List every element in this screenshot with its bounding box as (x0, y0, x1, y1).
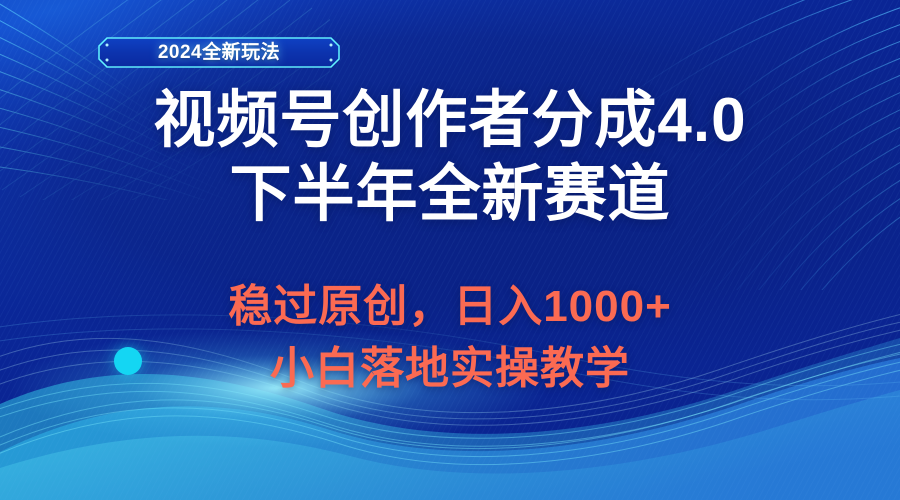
promo-badge: 2024全新玩法 (98, 37, 340, 68)
headline: 视频号创作者分成4.0 下半年全新赛道 (0, 88, 900, 227)
promo-poster: 2024全新玩法 视频号创作者分成4.0 下半年全新赛道 稳过原创，日入1000… (0, 0, 900, 500)
subtitle: 稳过原创，日入1000+ 小白落地实操教学 (0, 281, 900, 395)
promo-badge-label: 2024全新玩法 (158, 43, 280, 62)
headline-line-1: 视频号创作者分成4.0 (0, 88, 900, 154)
background-line-artwork (0, 0, 900, 500)
headline-line-2: 下半年全新赛道 (0, 162, 900, 228)
cyan-dot-icon (114, 347, 142, 375)
subtitle-line-1: 稳过原创，日入1000+ (0, 281, 900, 333)
